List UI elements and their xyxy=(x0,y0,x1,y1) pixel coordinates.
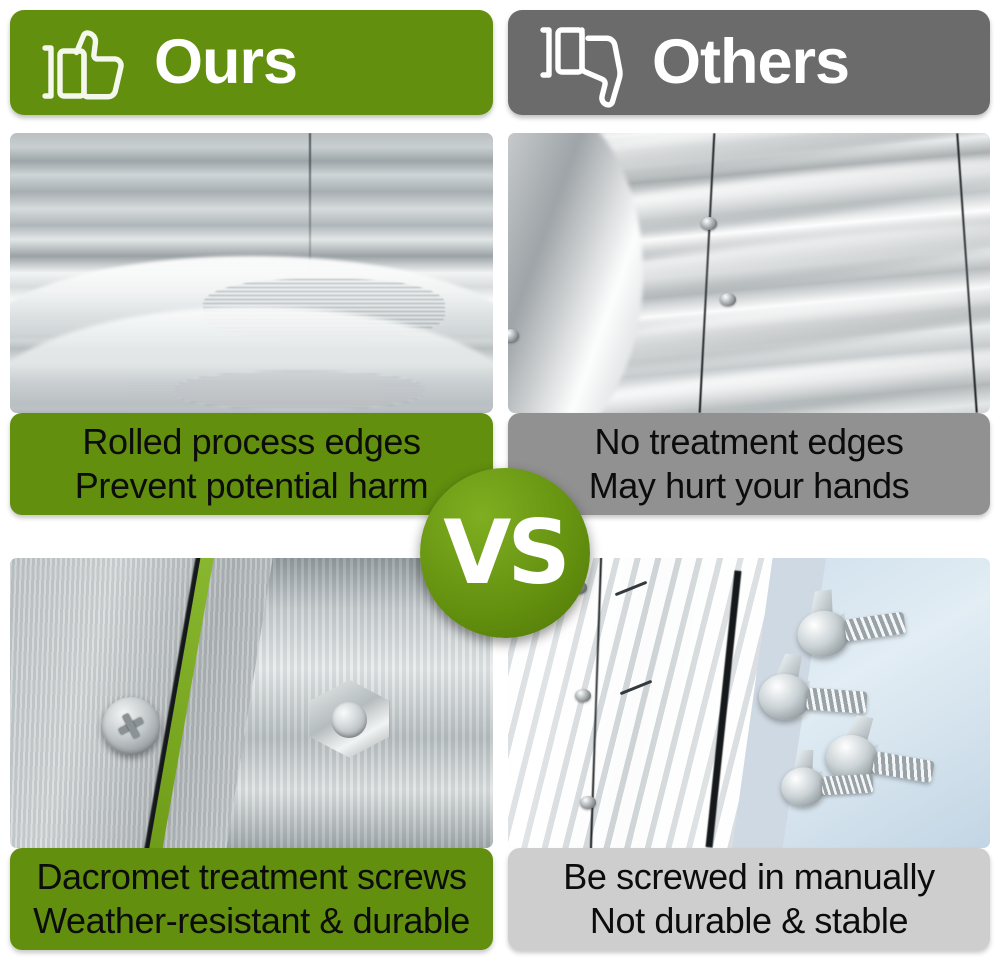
caption-line-2: May hurt your hands xyxy=(589,464,910,508)
metal-surface-graphic xyxy=(10,133,493,413)
wing-screw xyxy=(780,752,875,816)
vs-badge: VS xyxy=(420,468,590,638)
screw-head xyxy=(720,293,736,306)
panel-seam xyxy=(309,133,311,273)
thumbs-up-icon xyxy=(36,18,132,108)
photo-ours-dacromet-screws xyxy=(10,558,493,848)
header-label-others: Others xyxy=(652,31,849,94)
photo-others-wing-screws xyxy=(508,558,990,848)
caption-line-1: Rolled process edges xyxy=(82,420,420,464)
header-banner-others: Others xyxy=(508,10,990,115)
caption-line-2: Weather-resistant & durable xyxy=(33,899,470,943)
bolt-shank xyxy=(331,702,367,738)
header-banner-ours: Ours xyxy=(10,10,493,115)
caption-ours-dacromet-screws: Dacromet treatment screws Weather-resist… xyxy=(10,848,493,950)
hex-bolt xyxy=(309,680,389,758)
caption-line-1: Dacromet treatment screws xyxy=(36,855,466,899)
screw-thread xyxy=(872,751,935,783)
wing-screw-scene-graphic xyxy=(508,558,990,848)
screw-head xyxy=(701,217,717,230)
screw-thread xyxy=(844,611,906,641)
wing-screw xyxy=(793,586,910,670)
photo-others-raw-edge xyxy=(508,133,990,413)
caption-others-wing-screws: Be screwed in manually Not durable & sta… xyxy=(508,848,990,950)
split-panel-graphic xyxy=(10,558,493,848)
caption-line-2: Not durable & stable xyxy=(590,899,908,943)
header-label-ours: Ours xyxy=(154,31,297,94)
caption-ours-rolled-edge: Rolled process edges Prevent potential h… xyxy=(10,413,493,515)
corrugated-metal-graphic xyxy=(508,133,990,413)
screw-thread xyxy=(822,774,874,795)
panel-lip xyxy=(508,133,643,413)
comparison-infographic: Ours Others xyxy=(0,0,1000,965)
screw-head xyxy=(575,689,591,702)
caption-line-2: Prevent potential harm xyxy=(75,464,428,508)
dacromet-screw-head xyxy=(102,697,160,755)
photo-ours-rolled-edge xyxy=(10,133,493,413)
vs-label: VS xyxy=(443,509,566,597)
caption-others-raw-edge: No treatment edges May hurt your hands xyxy=(508,413,990,515)
edge-ridge-texture-lower xyxy=(174,371,425,410)
thumbs-down-icon xyxy=(534,18,630,108)
caption-line-1: No treatment edges xyxy=(595,420,904,464)
screw-thread xyxy=(806,688,867,714)
screw-head xyxy=(580,796,596,809)
caption-line-1: Be screwed in manually xyxy=(563,855,934,899)
